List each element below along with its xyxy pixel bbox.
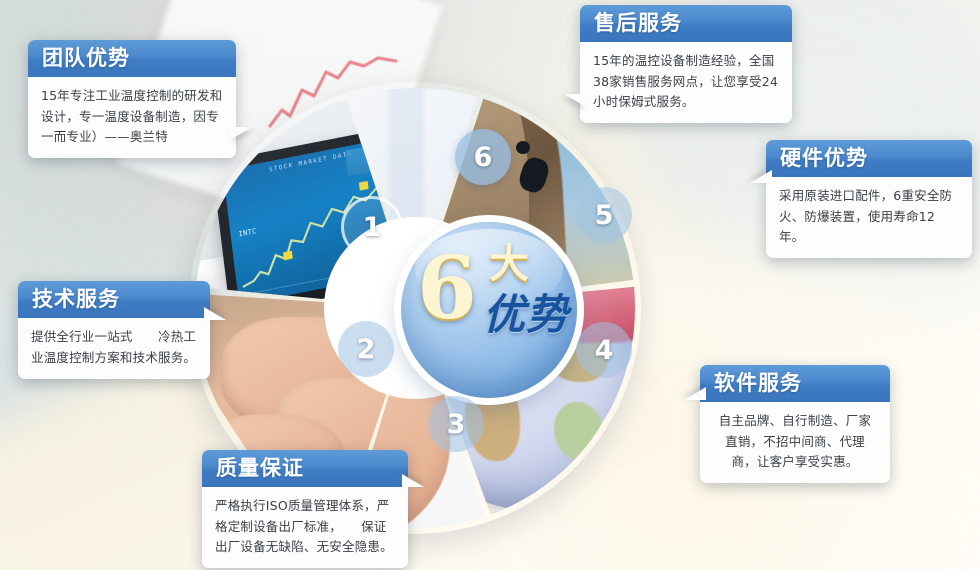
number-badge-3[interactable]: 3 (428, 396, 484, 452)
card-hardware-body: 采用原装进口配件，6重安全防火、防爆装置，使用寿命12年。 (766, 177, 972, 258)
number-badge-4[interactable]: 4 (576, 322, 632, 378)
callout-card-technical[interactable]: 技术服务 提供全行业一站式 冷热工业温度控制方案和技术服务。 (18, 281, 210, 379)
number-badge-1[interactable]: 1 (341, 196, 403, 258)
card-after-sales-title: 售后服务 (580, 5, 792, 42)
card-quality-title: 质量保证 (202, 450, 408, 487)
card-team-title: 团队优势 (28, 40, 236, 77)
card-quality-body: 严格执行ISO质量管理体系，严格定制设备出厂标准， 保证出厂设备无缺陷、无安全隐… (202, 487, 408, 568)
number-badge-6[interactable]: 6 (455, 129, 511, 185)
center-badge: 6 大 优势 (401, 222, 577, 398)
card-software-title: 软件服务 (700, 365, 890, 402)
badge-number: 6 (417, 246, 477, 332)
number-badge-5[interactable]: 5 (576, 187, 632, 243)
card-after-sales-body: 15年的温控设备制造经验，全国38家销售服务网点，让您享受24小时保姆式服务。 (580, 42, 792, 123)
tablet-header-text: STOCK MARKET DATA (269, 150, 354, 173)
card-technical-title: 技术服务 (18, 281, 210, 318)
callout-card-team[interactable]: 团队优势 15年专注工业温度控制的研发和设计，专一温度设备制造，因专一而专业）—… (28, 40, 236, 158)
card-software-body: 自主品牌、自行制造、厂家直销，不招中间商、代理商，让客户享受实惠。 (700, 402, 890, 483)
card-quality-pointer (402, 474, 424, 487)
card-after-sales-pointer (564, 94, 586, 107)
number-badge-2[interactable]: 2 (338, 321, 394, 377)
badge-word: 优势 (483, 294, 569, 336)
card-team-pointer (230, 127, 252, 140)
callout-card-software[interactable]: 软件服务 自主品牌、自行制造、厂家直销，不招中间商、代理商，让客户享受实惠。 (700, 365, 890, 483)
badge-unit: 大 (489, 244, 529, 284)
card-hardware-pointer (750, 170, 772, 183)
card-technical-pointer (204, 307, 226, 320)
card-software-pointer (684, 387, 706, 400)
card-technical-body: 提供全行业一站式 冷热工业温度控制方案和技术服务。 (18, 318, 210, 379)
callout-card-quality[interactable]: 质量保证 严格执行ISO质量管理体系，严格定制设备出厂标准， 保证出厂设备无缺陷… (202, 450, 408, 568)
card-team-body: 15年专注工业温度控制的研发和设计，专一温度设备制造，因专一而专业）——奥兰特 (28, 77, 236, 158)
callout-card-hardware[interactable]: 硬件优势 采用原装进口配件，6重安全防火、防爆装置，使用寿命12年。 (766, 140, 972, 258)
infographic-stage: STOCK MARKET DATA INTC 6 大 优 (0, 0, 980, 570)
card-hardware-title: 硬件优势 (766, 140, 972, 177)
callout-card-after-sales[interactable]: 售后服务 15年的温控设备制造经验，全国38家销售服务网点，让您享受24小时保姆… (580, 5, 792, 123)
